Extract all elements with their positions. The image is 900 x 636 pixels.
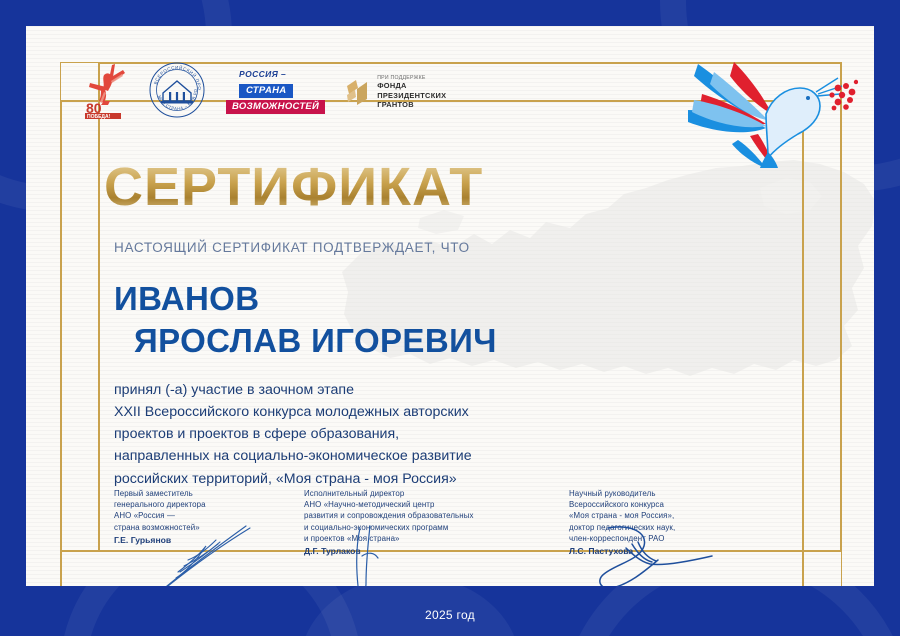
certificate-subtitle: НАСТОЯЩИЙ СЕРТИФИКАТ ПОДТВЕРЖДАЕТ, ЧТО [114, 240, 470, 255]
signature-role-line: доктор педагогических наук, [569, 522, 759, 533]
signature-role-line: генерального директора [114, 499, 289, 510]
svg-text:ВСЕРОССИЙСКИЙ ПРОЕКТ: ВСЕРОССИЙСКИЙ ПРОЕКТ [148, 61, 202, 91]
body-line: направленных на социально-экономическое … [114, 445, 584, 467]
gold-frame-left [98, 62, 100, 550]
grants-fund-line-2: ПРЕЗИДЕНТСКИХ [377, 91, 446, 100]
rsv-line-3: ВОЗМОЖНОСТЕЙ [226, 100, 325, 114]
body-line: проектов и проектов в сфере образования, [114, 423, 584, 445]
page-title: СЕРТИФИКАТ [104, 160, 483, 214]
logo-row: 80 ПОБЕДА! [82, 62, 446, 122]
recipient-surname: ИВАНОВ [114, 278, 497, 320]
body-line: российских территорий, «Моя страна - моя… [114, 468, 584, 490]
grants-fund-line-1: ФОНДА [377, 81, 446, 90]
signature-role-line: страна возможностей» [114, 522, 289, 533]
signature-role-line: Исполнительный директор [304, 488, 534, 499]
signature-role-line: член-корреспондент РАО [569, 533, 759, 544]
rsv-line-2: СТРАНА [239, 84, 293, 98]
gold-frame-right-inner [802, 100, 804, 586]
signature-role-line: АНО «Россия — [114, 510, 289, 521]
body-line: XXII Всероссийского конкурса молодежных … [114, 401, 584, 423]
body-line: принял (-а) участие в заочном этапе [114, 379, 584, 401]
certificate-body-text: принял (-а) участие в заочном этапе XXII… [114, 379, 584, 490]
certificate-page: 80 ПОБЕДА! [0, 0, 900, 636]
grants-fund-mark [345, 77, 371, 107]
firebird-emblem [662, 48, 858, 168]
signatory-name: Г.Е. Гурьянов [114, 534, 289, 546]
signature-role-line: и проектов «Моя страна» [304, 533, 534, 544]
signature-role-line: и социально-экономических программ [304, 522, 534, 533]
signatory-name: Л.С. Пастухова [569, 545, 759, 557]
signatory-name: Д.Г. Турлаков [304, 545, 534, 557]
victory-caption: ПОБЕДА! [87, 114, 111, 119]
rsv-line-1: РОССИЯ – [226, 70, 325, 79]
signature-block-guryanov: Первый заместитель генерального директор… [114, 488, 289, 546]
signature-role-line: Первый заместитель [114, 488, 289, 499]
victory-80-logo: 80 ПОБЕДА! [82, 61, 128, 124]
signature-role-line: Научный руководитель [569, 488, 759, 499]
presidential-grants-fund-logo: ПРИ ПОДДЕРЖКЕ ФОНДА ПРЕЗИДЕНТСКИХ ГРАНТО… [345, 75, 446, 109]
russia-land-of-opportunity-logo: РОССИЯ – СТРАНА ВОЗМОЖНОСТЕЙ [226, 70, 325, 114]
grants-fund-line-3: ГРАНТОВ [377, 100, 446, 109]
recipient-name: ИВАНОВ ЯРОСЛАВ ИГОРЕВИЧ [114, 278, 497, 362]
gold-corner-square-bottom-right [802, 550, 842, 586]
recipient-given-names: ЯРОСЛАВ ИГОРЕВИЧ [114, 320, 497, 362]
certificate-card: 80 ПОБЕДА! [26, 26, 874, 586]
signature-role-line: развития и сопровождения образовательных [304, 510, 534, 521]
signature-block-turlakov: Исполнительный директор АНО «Научно-мето… [304, 488, 534, 557]
my-country-my-russia-seal: ВСЕРОССИЙСКИЙ ПРОЕКТ МОЯ СТРАНА – МОЯ РО… [148, 61, 206, 124]
certificate-year: 2025 год [0, 608, 900, 622]
gold-frame-left-inner [60, 100, 62, 586]
signature-role-line: Всероссийского конкурса [569, 499, 759, 510]
signature-role-line: АНО «Научно-методический центр [304, 499, 534, 510]
signature-role-line: «Моя страна - моя Россия», [569, 510, 759, 521]
signature-block-pastukhova: Научный руководитель Всероссийского конк… [569, 488, 759, 557]
